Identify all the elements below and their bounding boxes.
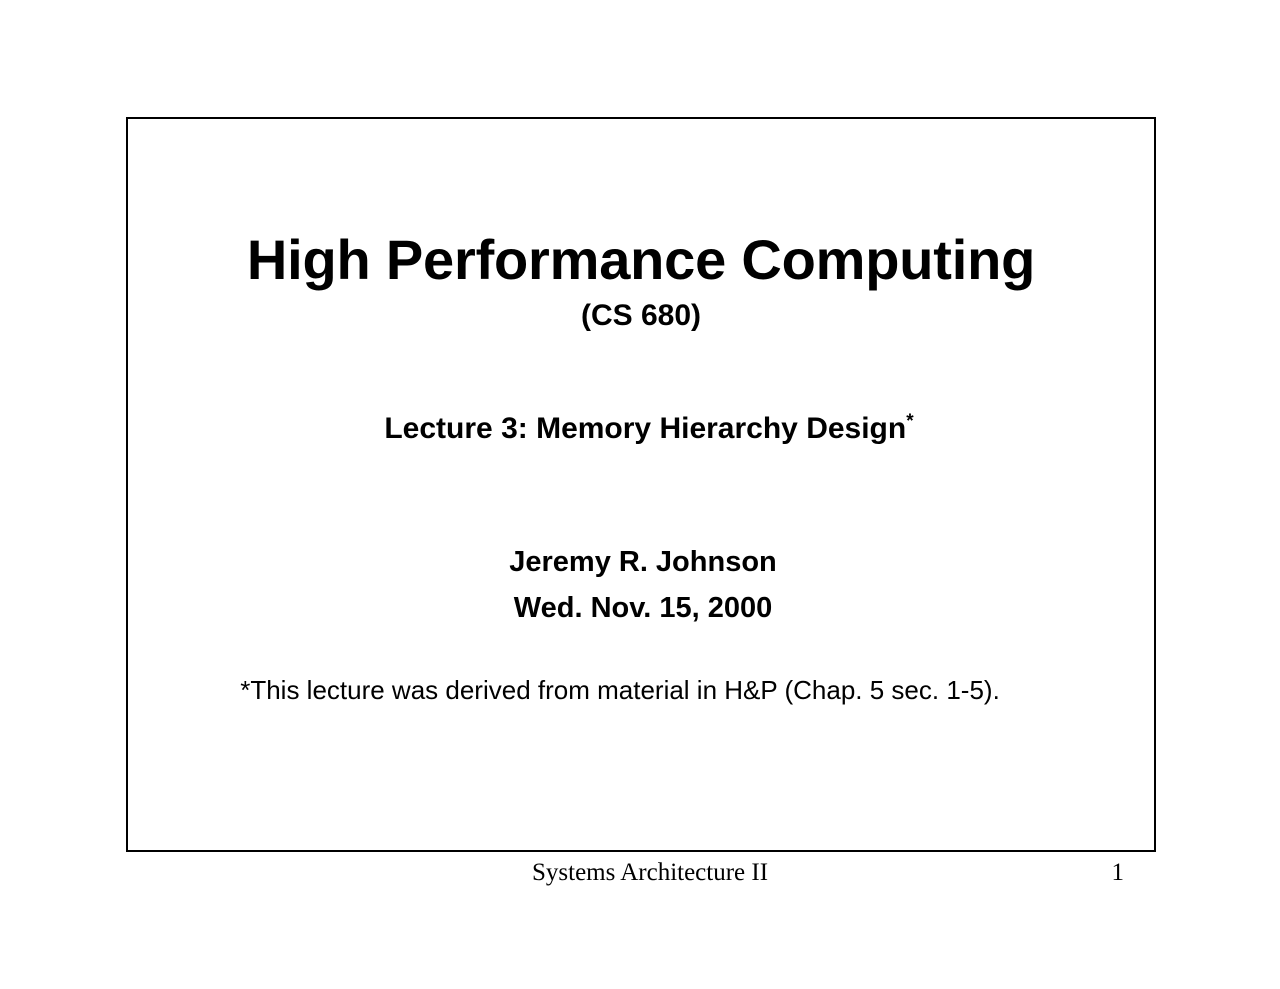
slide-content-area: High Performance Computing (CS 680) Lect… xyxy=(128,119,1154,850)
author-block: Jeremy R. Johnson Wed. Nov. 15, 2000 xyxy=(128,540,1154,632)
author-name: Jeremy R. Johnson xyxy=(132,540,1154,586)
page-title: High Performance Computing xyxy=(128,231,1154,290)
lecture-title-line: Lecture 3: Memory Hierarchy Design* xyxy=(128,412,1154,446)
footnote-marker-asterisk: * xyxy=(906,411,913,432)
course-code-subtitle: (CS 680) xyxy=(128,298,1154,334)
slide-footer: Systems Architecture II 1 xyxy=(126,858,1156,896)
footer-page-number: 1 xyxy=(1112,858,1125,888)
lecture-title-text: Lecture 3: Memory Hierarchy Design xyxy=(384,412,906,445)
lecture-date: Wed. Nov. 15, 2000 xyxy=(132,586,1154,632)
footnote-text: *This lecture was derived from material … xyxy=(128,675,1154,706)
slide-frame: High Performance Computing (CS 680) Lect… xyxy=(126,117,1156,852)
title-block: High Performance Computing (CS 680) xyxy=(128,231,1154,334)
slide-page: High Performance Computing (CS 680) Lect… xyxy=(0,0,1280,989)
footer-course-label: Systems Architecture II xyxy=(532,858,768,888)
